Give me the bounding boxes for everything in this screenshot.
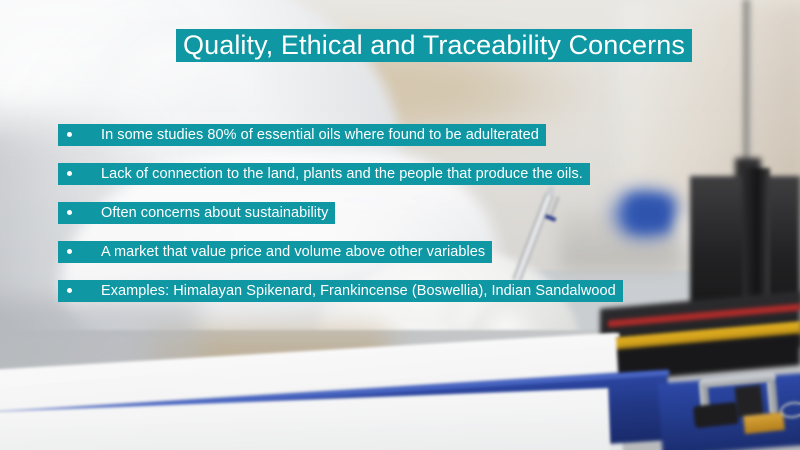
list-item: A market that value price and volume abo… — [58, 241, 623, 263]
bullet-text: In some studies 80% of essential oils wh… — [101, 124, 539, 146]
bullet-text: A market that value price and volume abo… — [101, 241, 485, 263]
bullet-highlight-band: In some studies 80% of essential oils wh… — [58, 124, 546, 146]
bullet-highlight-band: Often concerns about sustainability — [58, 202, 335, 224]
bullet-list: In some studies 80% of essential oils wh… — [58, 124, 623, 319]
list-item: In some studies 80% of essential oils wh… — [58, 124, 623, 146]
list-item: Lack of connection to the land, plants a… — [58, 163, 623, 185]
dot-bullet-icon — [67, 288, 72, 293]
dot-bullet-icon — [67, 210, 72, 215]
bullet-highlight-band: Examples: Himalayan Spikenard, Frankince… — [58, 280, 623, 302]
bullet-text: Often concerns about sustainability — [101, 202, 328, 224]
list-item: Often concerns about sustainability — [58, 202, 623, 224]
list-item: Examples: Himalayan Spikenard, Frankince… — [58, 280, 623, 302]
bullet-text: Examples: Himalayan Spikenard, Frankince… — [101, 280, 616, 302]
slide-content: Quality, Ethical and Traceability Concer… — [0, 0, 800, 450]
bullet-text: Lack of connection to the land, plants a… — [101, 163, 583, 185]
slide-title-container: Quality, Ethical and Traceability Concer… — [176, 29, 692, 62]
bullet-highlight-band: Lack of connection to the land, plants a… — [58, 163, 590, 185]
page-title: Quality, Ethical and Traceability Concer… — [176, 29, 692, 62]
presentation-slide: Quality, Ethical and Traceability Concer… — [0, 0, 800, 450]
dot-bullet-icon — [67, 171, 72, 176]
dot-bullet-icon — [67, 249, 72, 254]
bullet-highlight-band: A market that value price and volume abo… — [58, 241, 492, 263]
dot-bullet-icon — [67, 132, 72, 137]
